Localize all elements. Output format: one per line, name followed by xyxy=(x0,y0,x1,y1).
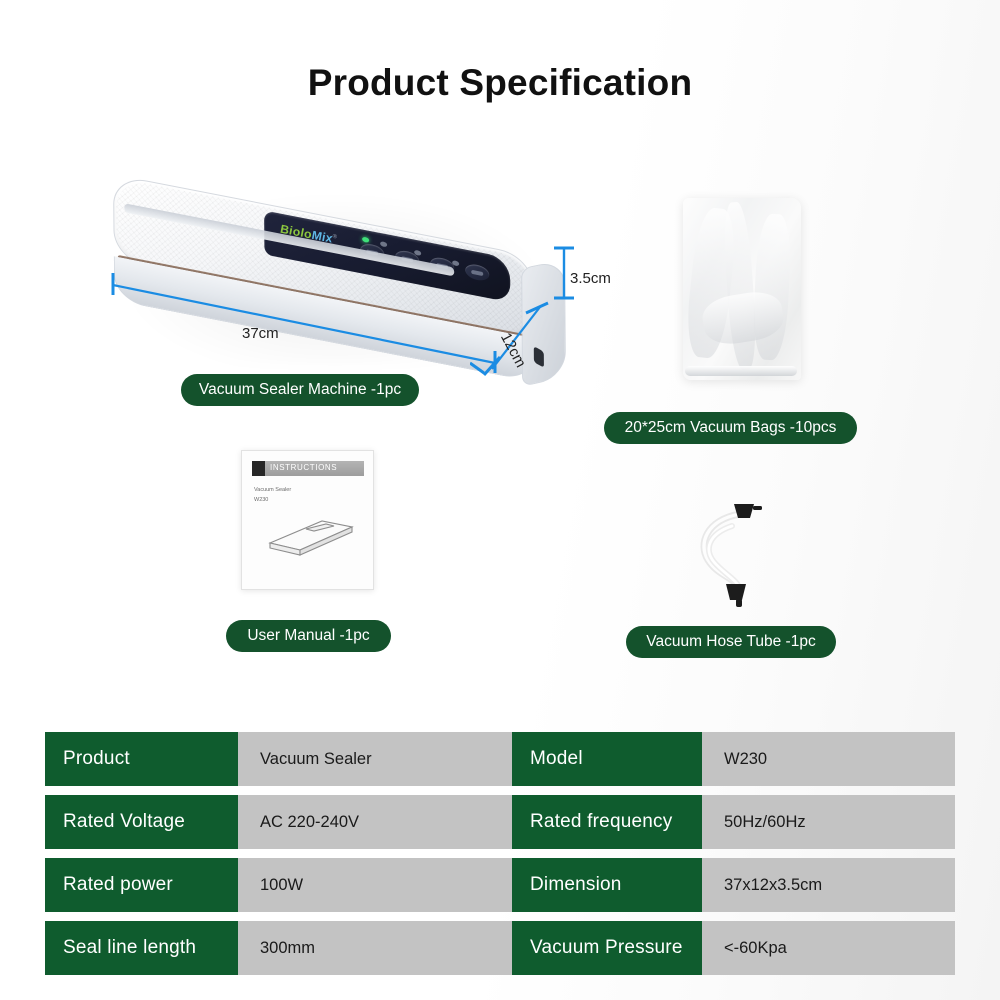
spec-key: Rated power xyxy=(45,858,238,912)
dimension-depth-graphic xyxy=(470,295,590,415)
spec-value: 37x12x3.5cm xyxy=(702,858,955,912)
dimension-length-label: 37cm xyxy=(242,325,279,342)
hose-connector-bottom xyxy=(726,584,746,607)
manual-cover-line1: Vacuum Sealer xyxy=(254,485,291,495)
spec-value: 100W xyxy=(238,858,512,912)
manual-cover-title: INSTRUCTIONS xyxy=(270,463,337,472)
spec-key: Rated Voltage xyxy=(45,795,238,849)
spec-key: Model xyxy=(512,732,702,786)
spec-key: Rated frequency xyxy=(512,795,702,849)
spec-value: <-60Kpa xyxy=(702,921,955,975)
vacuum-hose-tube-image xyxy=(692,492,788,614)
spec-value: Vacuum Sealer xyxy=(238,732,512,786)
bag-stack-edge xyxy=(685,366,797,376)
vacuum-bags-image xyxy=(683,198,801,380)
dimension-height-label: 3.5cm xyxy=(570,270,611,287)
badge-vacuum-hose-tube: Vacuum Hose Tube -1pc xyxy=(626,626,836,658)
manual-header-block-icon xyxy=(252,461,265,476)
badge-vacuum-sealer-machine: Vacuum Sealer Machine -1pc xyxy=(181,374,419,406)
spec-key: Seal line length xyxy=(45,921,238,975)
badge-vacuum-bags: 20*25cm Vacuum Bags -10pcs xyxy=(604,412,857,444)
manual-cover-line2: W230 xyxy=(254,495,291,505)
spec-value: 300mm xyxy=(238,921,512,975)
bag-fold-2 xyxy=(721,201,759,370)
specification-table: Product Vacuum Sealer Model W230 Rated V… xyxy=(45,732,955,975)
brand-trademark-icon: ® xyxy=(333,234,338,241)
badge-user-manual: User Manual -1pc xyxy=(226,620,391,652)
manual-cover-illustration xyxy=(260,513,358,558)
spec-key: Product xyxy=(45,732,238,786)
table-row: Rated Voltage AC 220-240V Rated frequenc… xyxy=(45,795,955,849)
spec-value: W230 xyxy=(702,732,955,786)
table-row: Rated power 100W Dimension 37x12x3.5cm xyxy=(45,858,955,912)
table-row: Seal line length 300mm Vacuum Pressure <… xyxy=(45,921,955,975)
user-manual-image: INSTRUCTIONS Vacuum Sealer W230 xyxy=(241,450,374,590)
spec-value: AC 220-240V xyxy=(238,795,512,849)
spec-key: Vacuum Pressure xyxy=(512,921,702,975)
hose-connector-top xyxy=(734,504,762,518)
page-title: Product Specification xyxy=(0,62,1000,104)
table-row: Product Vacuum Sealer Model W230 xyxy=(45,732,955,786)
spec-key: Dimension xyxy=(512,858,702,912)
spec-value: 50Hz/60Hz xyxy=(702,795,955,849)
manual-cover-subtitle: Vacuum Sealer W230 xyxy=(254,485,291,506)
